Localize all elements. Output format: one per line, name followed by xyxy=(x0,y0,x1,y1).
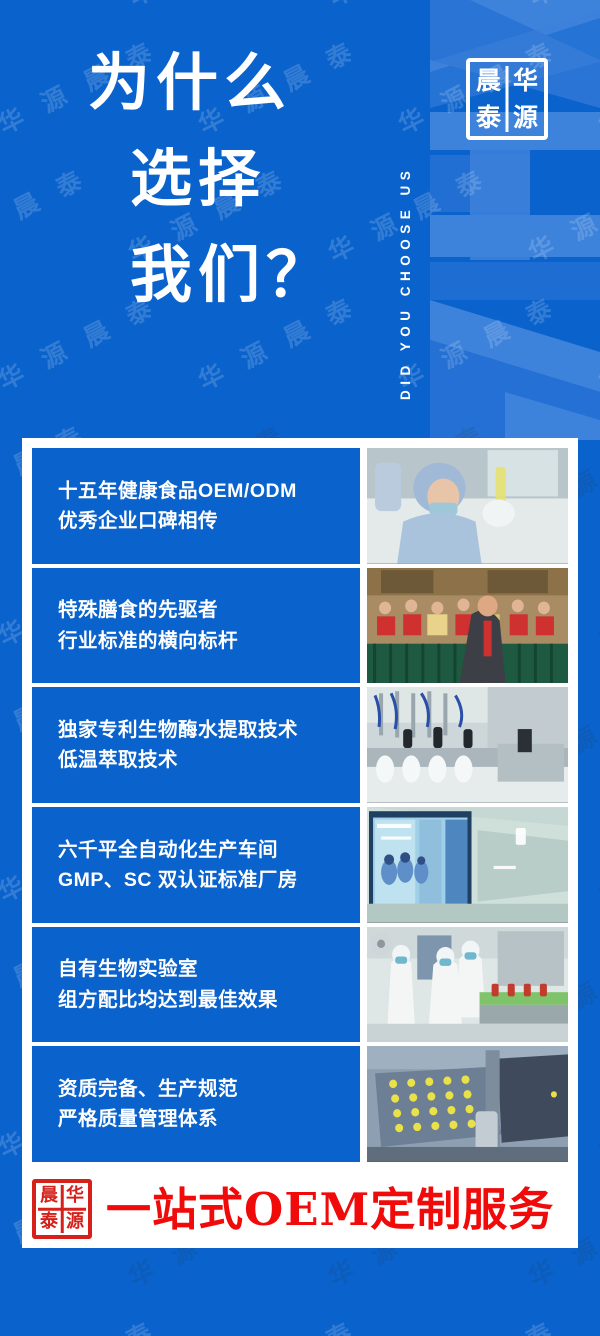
feature-line-2: 低温萃取技术 xyxy=(58,745,360,775)
feature-card: 六千平全自动化生产车间 GMP、SC 双认证标准厂房 xyxy=(32,807,360,923)
seal-char-3: 泰 xyxy=(470,99,507,136)
page-title: 为什么 选择 我们？ xyxy=(88,52,388,306)
poster-header: 为什么 选择 我们？ DID YOU CHOOSE US 晨 华 泰 源 xyxy=(0,0,600,440)
footer-headline: 一站式OEM定制服务 xyxy=(106,1187,554,1232)
feature-card: 资质完备、生产规范 严格质量管理体系 xyxy=(32,1046,360,1162)
feature-card: 十五年健康食品OEM/ODM 优秀企业口碑相传 xyxy=(32,448,360,564)
feature-card: 独家专利生物酶水提取技术 低温萃取技术 xyxy=(32,687,360,803)
feature-line-1: 特殊膳食的先驱者 xyxy=(58,595,360,625)
footer-seal-char-2: 华 xyxy=(62,1183,88,1209)
feature-line-1: 自有生物实验室 xyxy=(58,954,360,984)
list-item: 独家专利生物酶水提取技术 低温萃取技术 xyxy=(32,687,568,803)
poster-root: 为什么 选择 我们？ DID YOU CHOOSE US 晨 华 泰 源 十五年… xyxy=(0,0,600,1336)
list-item: 自有生物实验室 组方配比均达到最佳效果 xyxy=(32,927,568,1043)
title-line-1: 为什么 xyxy=(88,52,388,114)
feature-line-1: 六千平全自动化生产车间 xyxy=(58,835,360,865)
feature-line-2: GMP、SC 双认证标准厂房 xyxy=(58,865,360,895)
title-line-3: 我们？ xyxy=(130,244,388,306)
seal-char-2: 华 xyxy=(507,62,544,99)
seal-char-1: 晨 xyxy=(470,62,507,99)
list-item: 特殊膳食的先驱者 行业标准的横向标杆 xyxy=(32,568,568,684)
photo-conference-audience xyxy=(367,568,568,684)
feature-line-2: 行业标准的横向标杆 xyxy=(58,626,360,656)
brand-seal-logo: 晨 华 泰 源 xyxy=(466,58,548,140)
vertical-english-caption: DID YOU CHOOSE US xyxy=(398,30,424,400)
list-item: 六千平全自动化生产车间 GMP、SC 双认证标准厂房 xyxy=(32,807,568,923)
feature-line-1: 十五年健康食品OEM/ODM xyxy=(58,476,360,506)
feature-line-2: 严格质量管理体系 xyxy=(58,1104,360,1134)
list-item: 十五年健康食品OEM/ODM 优秀企业口碑相传 xyxy=(32,448,568,564)
feature-card: 自有生物实验室 组方配比均达到最佳效果 xyxy=(32,927,360,1043)
features-frame: 十五年健康食品OEM/ODM 优秀企业口碑相传 xyxy=(22,438,578,1172)
seal-char-4: 源 xyxy=(507,99,544,136)
footer-seal-char-3: 泰 xyxy=(36,1209,62,1235)
photo-lab-technician-inspecting-vial xyxy=(367,448,568,564)
features-list: 十五年健康食品OEM/ODM 优秀企业口碑相传 xyxy=(32,448,568,1162)
seal-border: 晨 华 泰 源 xyxy=(466,58,548,140)
title-line-2: 选择 xyxy=(130,148,388,210)
photo-filling-production-line xyxy=(367,687,568,803)
feature-line-2: 组方配比均达到最佳效果 xyxy=(58,985,360,1015)
feature-line-1: 独家专利生物酶水提取技术 xyxy=(58,715,360,745)
feature-line-2: 优秀企业口碑相传 xyxy=(58,506,360,536)
feature-line-1: 资质完备、生产规范 xyxy=(58,1074,360,1104)
photo-cleanroom-corridor xyxy=(367,807,568,923)
list-item: 资质完备、生产规范 严格质量管理体系 xyxy=(32,1046,568,1162)
photo-blister-packing-capsules xyxy=(367,1046,568,1162)
photo-staff-at-packaging-machine xyxy=(367,927,568,1043)
footer-seal-char-1: 晨 xyxy=(36,1183,62,1209)
footer-banner: 晨 华 泰 源 一站式OEM定制服务 xyxy=(22,1170,578,1248)
feature-card: 特殊膳食的先驱者 行业标准的横向标杆 xyxy=(32,568,360,684)
footer-seal-char-4: 源 xyxy=(62,1209,88,1235)
footer-seal-logo: 晨 华 泰 源 xyxy=(32,1179,92,1239)
